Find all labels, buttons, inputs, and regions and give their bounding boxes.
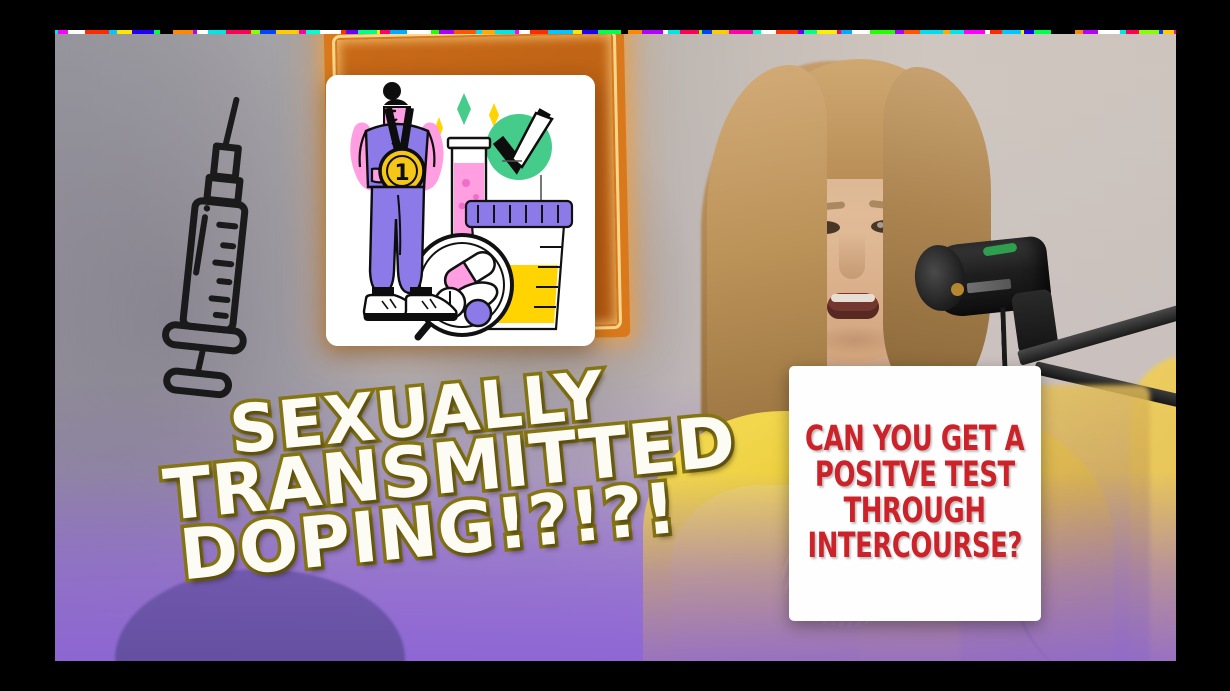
question-line-3: THROUGH [844,494,986,530]
glitch-segment [439,30,454,34]
glitch-segment [841,30,852,34]
glitch-segment [85,30,109,34]
glitch-segment [1083,30,1098,34]
glitch-segment [68,30,85,34]
glitch-segment [431,30,439,34]
glitch-segment [582,30,598,34]
glitch-segment [1051,30,1075,34]
glitch-segment [680,30,699,34]
thumbnail-stage: 1 [0,0,1230,691]
glitch-segment [573,30,582,34]
glitch-segment [160,30,173,34]
top-glitch-strip [55,30,1176,34]
nose [839,233,865,279]
glitch-segment [358,30,377,34]
glitch-segment [920,30,943,34]
glitch-segment [482,30,495,34]
glitch-segment [495,30,515,34]
glitch-segment [904,30,920,34]
glitch-segment [1098,30,1120,34]
glitch-segment [1075,30,1083,34]
glitch-segment [1024,30,1034,34]
glitch-segment [208,30,226,34]
medal-number: 1 [394,161,409,186]
magnifying-glass-pills [412,235,512,337]
glitch-segment [380,30,390,34]
glitch-segment [895,30,904,34]
glitch-segment [628,30,642,34]
glitch-segment [1139,30,1159,34]
glitch-segment [132,30,154,34]
glitch-segment [852,30,870,34]
glitch-segment [753,30,761,34]
glitch-segment [197,30,208,34]
glitch-segment [1034,30,1051,34]
glitch-segment [320,30,341,34]
glitch-segment [943,30,950,34]
glitch-segment [117,30,132,34]
glitch-segment [1126,30,1139,34]
glitch-segment [1002,30,1021,34]
question-line-2: POSITVE TEST [815,458,1015,494]
glitch-segment [260,30,276,34]
question-line-1: CAN YOU GET A [805,422,1024,458]
doping-illustration: 1 [326,75,595,346]
glitch-segment [548,30,573,34]
glitch-segment [58,30,68,34]
question-line-4: INTERCOURSE? [808,529,1022,565]
glitch-segment [519,30,530,34]
question-card[interactable]: CAN YOU GET A POSITVE TEST THROUGH INTER… [789,366,1041,621]
glitch-segment [346,30,358,34]
glitch-segment [251,30,260,34]
glitch-segment [299,30,306,34]
glitch-segment [1174,30,1176,34]
glitch-segment [668,30,680,34]
microphone-gold-knob [951,283,964,296]
glitch-segment [804,30,817,34]
glitch-segment [306,30,320,34]
glitch-segment [950,30,964,34]
doping-illustration-card[interactable]: 1 [326,75,595,346]
hair-strand-right [883,67,991,397]
glitch-segment [276,30,299,34]
sample-cup-lid [466,201,572,227]
teeth [831,294,875,302]
glitch-segment [390,30,407,34]
glitch-segment [990,30,1002,34]
glitch-segment [964,30,985,34]
glitch-segment [173,30,193,34]
glitch-segment [817,30,837,34]
glitch-segment [454,30,476,34]
glitch-segment [530,30,548,34]
glitch-segment [109,30,117,34]
glitch-segment [407,30,431,34]
glitch-segment [761,30,776,34]
glitch-segment [729,30,753,34]
video-frame[interactable]: 1 [55,30,1176,661]
glitch-segment [702,30,712,34]
glitch-segment [598,30,621,34]
glitch-segment [712,30,729,34]
glitch-segment [776,30,798,34]
glitch-segment [621,30,628,34]
glitch-segment [642,30,663,34]
glitch-segment [1163,30,1174,34]
glitch-segment [870,30,895,34]
glitch-segment [226,30,251,34]
